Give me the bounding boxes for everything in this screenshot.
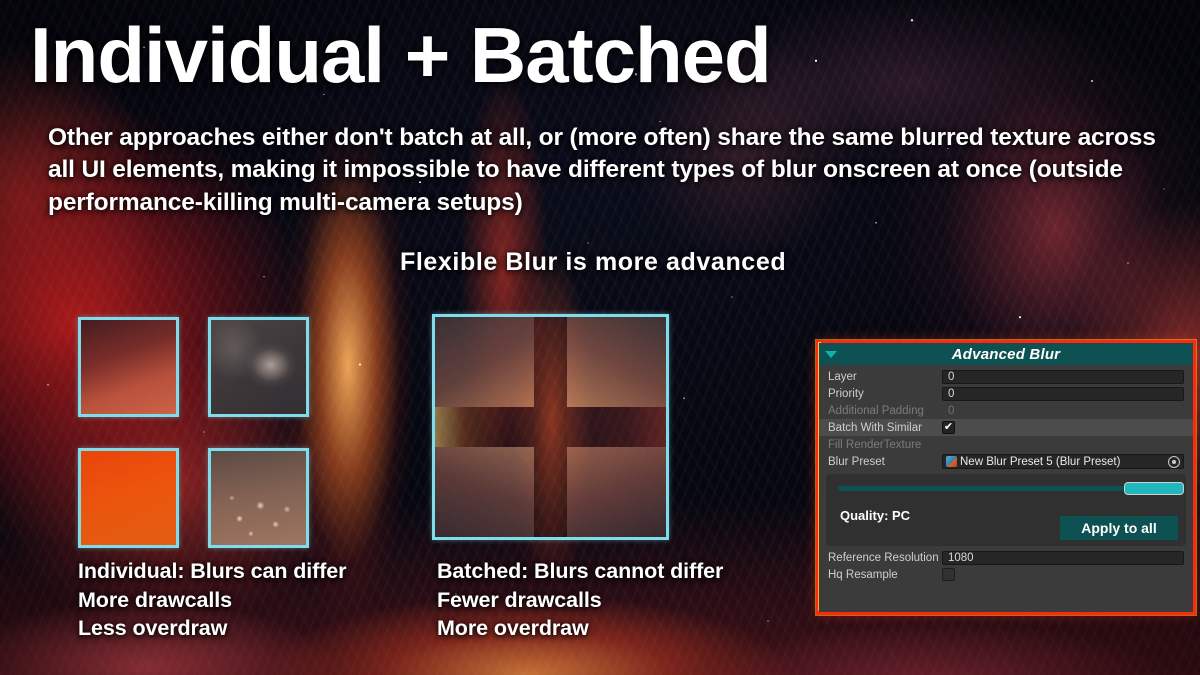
field-label: Batch With Similar xyxy=(828,422,942,434)
field-row-batch-with-similar[interactable]: Batch With Similar ✔ xyxy=(819,419,1193,436)
field-row-blur-preset[interactable]: Blur Preset New Blur Preset 5 (Blur Pres… xyxy=(819,453,1193,470)
blur-preset-object-field[interactable]: New Blur Preset 5 (Blur Preset) xyxy=(942,454,1184,469)
individual-blur-panel-3 xyxy=(78,448,179,548)
caption-batched: Batched: Blurs cannot differ Fewer drawc… xyxy=(437,557,723,643)
layer-input[interactable]: 0 xyxy=(942,370,1184,384)
batched-quadrant-mid-right xyxy=(567,407,666,447)
individual-blur-panel-2 xyxy=(208,317,309,417)
reference-resolution-input[interactable]: 1080 xyxy=(942,551,1184,565)
batched-blur-panel xyxy=(432,314,669,540)
apply-to-all-button[interactable]: Apply to all xyxy=(1060,516,1178,540)
inspector-header: Advanced Blur xyxy=(819,343,1193,365)
blur-preset-asset-icon xyxy=(946,456,957,467)
individual-blur-panel-1 xyxy=(78,317,179,417)
blur-preset-inline-editor: Quality: PC Apply to all xyxy=(826,474,1186,546)
advanced-blur-inspector: Advanced Blur Layer 0 Priority 0 Additio… xyxy=(819,343,1193,612)
inspector-body: Layer 0 Priority 0 Additional Padding 0 … xyxy=(819,365,1193,583)
page-title: Individual + Batched xyxy=(30,16,771,94)
field-label: Reference Resolution xyxy=(828,552,942,564)
blur-fill xyxy=(81,320,176,414)
additional-padding-input: 0 xyxy=(942,404,1184,418)
batched-quadrant-top-left xyxy=(435,317,534,407)
inspector-title: Advanced Blur xyxy=(819,346,1193,363)
field-row-layer[interactable]: Layer 0 xyxy=(819,368,1193,385)
field-row-hq-resample[interactable]: Hq Resample ✔ xyxy=(819,566,1193,583)
field-row-additional-padding: Additional Padding 0 xyxy=(819,402,1193,419)
batched-quadrant-mid-left xyxy=(435,407,534,447)
caption-individual: Individual: Blurs can differ More drawca… xyxy=(78,557,346,643)
field-label: Priority xyxy=(828,388,942,400)
tagline-text: Flexible Blur is more advanced xyxy=(400,248,786,277)
object-picker-icon[interactable] xyxy=(1168,456,1180,468)
batched-quadrant-top-right xyxy=(567,317,666,407)
priority-input[interactable]: 0 xyxy=(942,387,1184,401)
blur-fill xyxy=(211,451,306,545)
field-label: Fill RenderTexture xyxy=(828,439,942,451)
blur-fill xyxy=(211,320,306,414)
hq-resample-checkbox[interactable]: ✔ xyxy=(942,568,955,581)
batch-with-similar-checkbox[interactable]: ✔ xyxy=(942,421,955,434)
field-label: Blur Preset xyxy=(828,456,942,468)
quality-label: Quality: PC xyxy=(840,508,910,523)
inspector-callout-border: Advanced Blur Layer 0 Priority 0 Additio… xyxy=(816,340,1196,615)
batched-quadrant-bottom-left xyxy=(435,447,534,537)
quality-slider-handle[interactable] xyxy=(1124,482,1184,495)
field-label: Hq Resample xyxy=(828,569,942,581)
field-row-reference-resolution[interactable]: Reference Resolution 1080 xyxy=(819,549,1193,566)
blur-fill xyxy=(81,451,176,545)
field-row-priority[interactable]: Priority 0 xyxy=(819,385,1193,402)
field-row-fill-rendertexture: Fill RenderTexture xyxy=(819,436,1193,453)
subtitle-text: Other approaches either don't batch at a… xyxy=(48,122,1178,219)
batched-quadrant-bottom-right xyxy=(567,447,666,537)
slide-canvas: Individual + Batched Other approaches ei… xyxy=(0,0,1200,675)
blur-preset-value: New Blur Preset 5 (Blur Preset) xyxy=(960,456,1120,468)
field-label: Additional Padding xyxy=(828,405,942,417)
individual-blur-panel-4 xyxy=(208,448,309,548)
quality-slider[interactable] xyxy=(838,482,1174,495)
field-label: Layer xyxy=(828,371,942,383)
